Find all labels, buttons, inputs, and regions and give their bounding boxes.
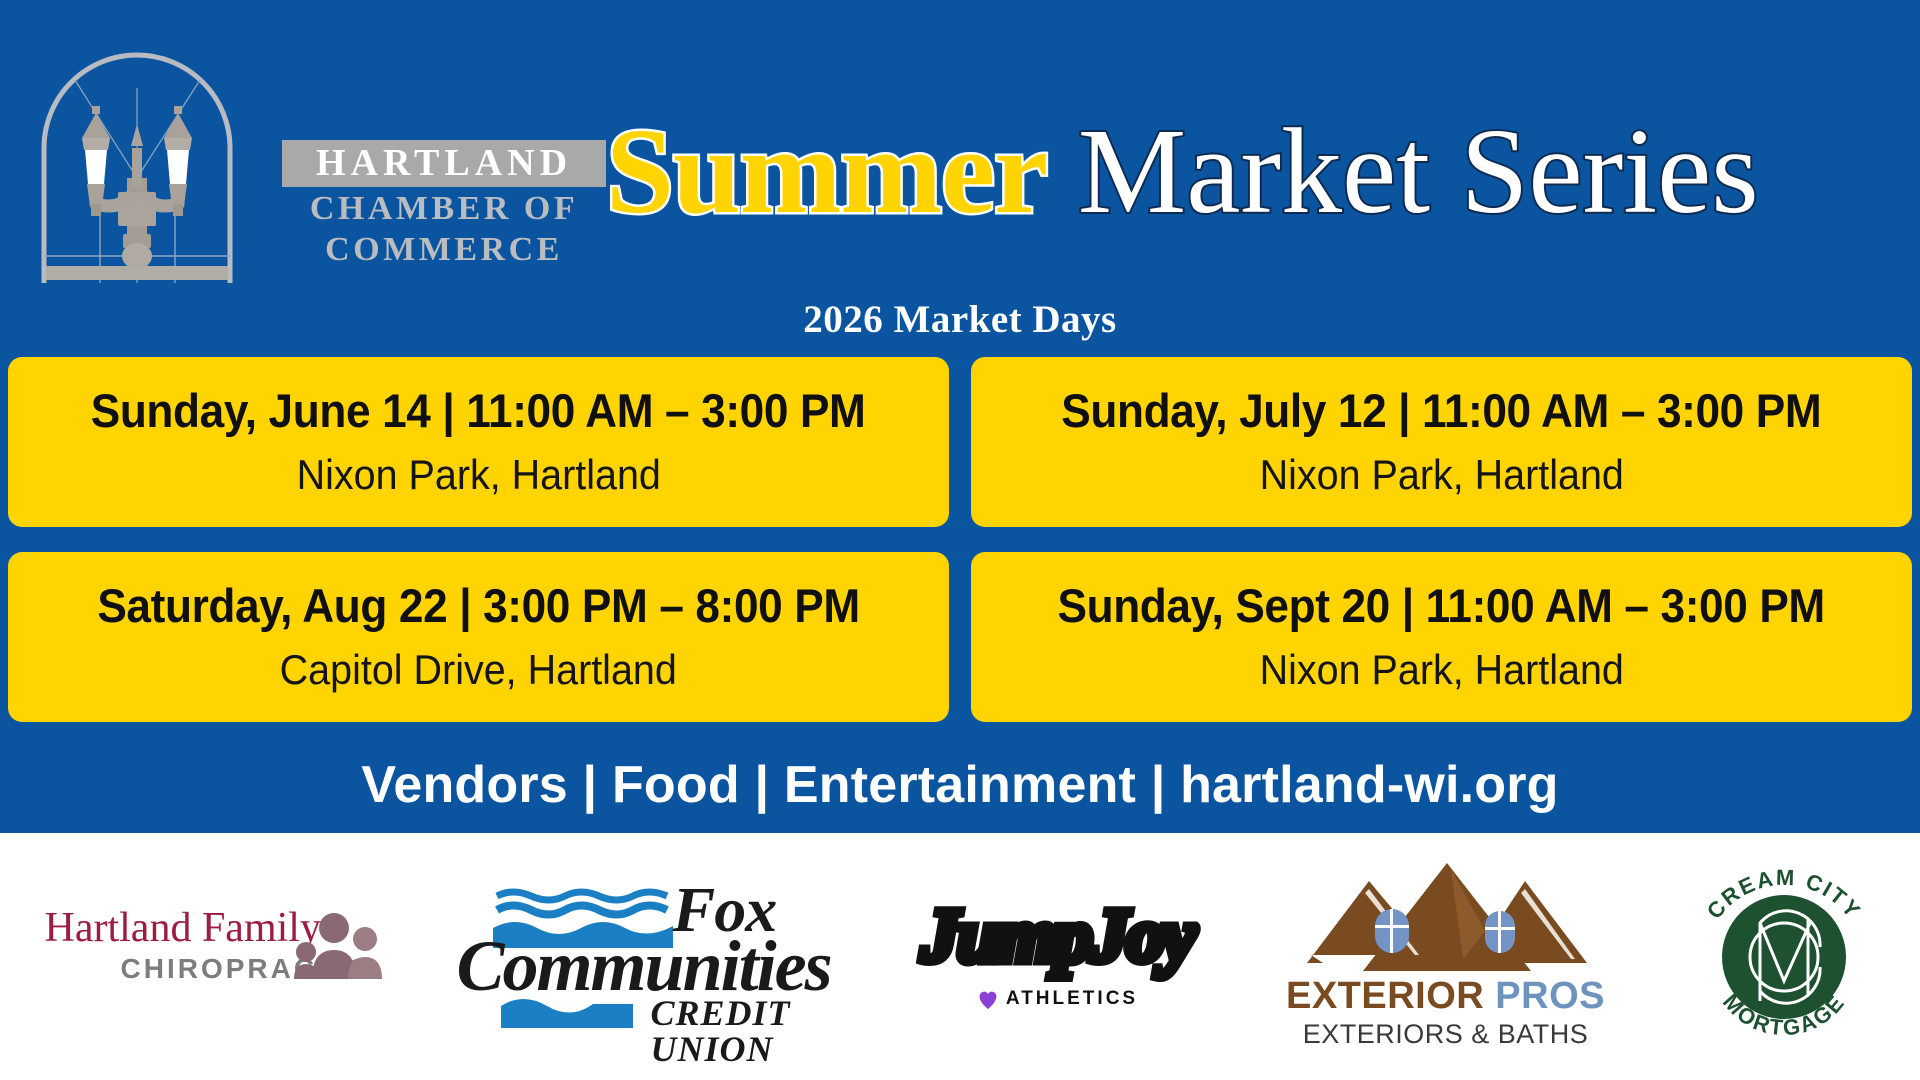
market-day-location: Nixon Park, Hartland: [1259, 453, 1623, 497]
market-day-title: Saturday, Aug 22 | 3:00 PM – 8:00 PM: [97, 582, 859, 631]
market-day-title: Sunday, Sept 20 | 11:00 AM – 3:00 PM: [1058, 582, 1825, 631]
credit-union-word: CREDIT UNION: [651, 995, 835, 1067]
market-day-location: Nixon Park, Hartland: [296, 453, 660, 497]
market-day-location: Nixon Park, Hartland: [1259, 648, 1623, 692]
exterior-pros-name: EXTERIOR PROS: [1281, 977, 1611, 1015]
sponsor-logo-strip: Hartland Family CHIROPRACTIC: [0, 833, 1920, 1080]
market-day-location: Capitol Drive, Hartland: [280, 648, 677, 692]
market-day-title: Sunday, July 12 | 11:00 AM – 3:00 PM: [1061, 387, 1821, 436]
sponsor-exterior-pros[interactable]: EXTERIOR PROS EXTERIORS & BATHS: [1281, 857, 1611, 1057]
market-day-card[interactable]: Sunday, June 14 | 11:00 AM – 3:00 PM Nix…: [8, 357, 949, 527]
fox-base-wave-icon: [497, 994, 637, 1028]
sponsor-fox-communities-credit-union[interactable]: Fox Communities CREDIT UNION: [455, 857, 835, 1057]
hartland-lamp-emblem: [30, 28, 245, 290]
exteriors-and-baths-tagline: EXTERIORS & BATHS: [1281, 1021, 1611, 1048]
chamber-line-1: HARTLAND: [282, 140, 606, 187]
market-day-title: Sunday, June 14 | 11:00 AM – 3:00 PM: [91, 387, 866, 436]
house-roof-icon: [1299, 859, 1595, 975]
heart-icon: [977, 988, 999, 1010]
sponsor-hartland-family-chiropractic[interactable]: Hartland Family CHIROPRACTIC: [37, 857, 382, 1057]
jumpjoy-word: JumpJoy: [908, 898, 1208, 974]
page-title: Summer Market Series: [606, 108, 1906, 248]
poster-header: HARTLAND CHAMBER OF COMMERCE Summer Mark…: [0, 0, 1920, 290]
chamber-line-2: CHAMBER OF: [282, 191, 606, 228]
summer-market-series-poster: HARTLAND CHAMBER OF COMMERCE Summer Mark…: [0, 0, 1920, 1080]
athletics-word: ATHLETICS: [1006, 988, 1138, 1010]
market-day-card[interactable]: Saturday, Aug 22 | 3:00 PM – 8:00 PM Cap…: [8, 552, 949, 722]
market-day-card[interactable]: Sunday, July 12 | 11:00 AM – 3:00 PM Nix…: [971, 357, 1912, 527]
family-figures-icon: [294, 911, 382, 979]
hartland-chamber-wordmark: HARTLAND CHAMBER OF COMMERCE: [282, 140, 606, 268]
sponsor-cream-city-mortgage[interactable]: CREAM CITY MORTGAGE: [1684, 857, 1884, 1057]
chamber-line-3: COMMERCE: [282, 232, 606, 269]
market-days-grid: Sunday, June 14 | 11:00 AM – 3:00 PM Nix…: [8, 357, 1912, 722]
communities-word: Communities: [457, 930, 831, 1002]
market-day-card[interactable]: Sunday, Sept 20 | 11:00 AM – 3:00 PM Nix…: [971, 552, 1912, 722]
chiropractic-name: Hartland Family: [45, 907, 321, 949]
sponsor-jumpjoy-athletics[interactable]: JumpJoy ATHLETICS: [908, 857, 1208, 1057]
subtitle-market-days: 2026 Market Days: [0, 297, 1920, 342]
tagline-vendors-food-entertainment[interactable]: Vendors | Food | Entertainment | hartlan…: [0, 755, 1920, 815]
cream-city-mortgage-badge: CREAM CITY MORTGAGE: [1684, 857, 1884, 1057]
title-summer: Summer: [606, 104, 1047, 239]
pros-word: PROS: [1495, 975, 1605, 1017]
title-market-series: Market Series: [1047, 104, 1758, 239]
exterior-word: EXTERIOR: [1286, 975, 1484, 1017]
